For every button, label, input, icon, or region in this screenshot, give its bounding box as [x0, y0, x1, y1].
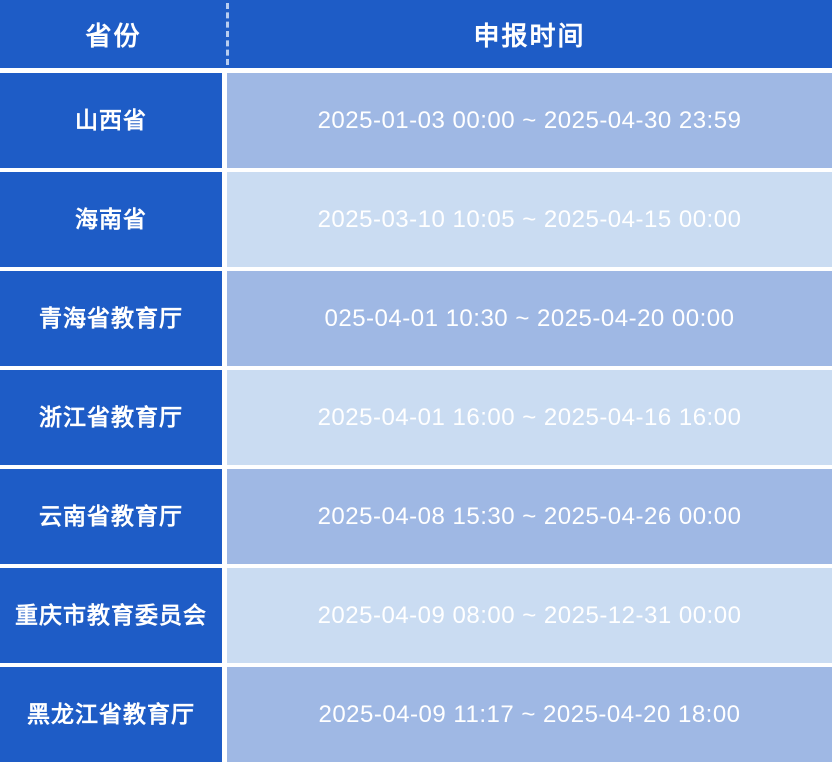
- declaration-time-label: 2025-04-01 16:00 ~ 2025-04-16 16:00: [318, 404, 742, 432]
- cell-province: 重庆市教育委员会: [0, 568, 227, 667]
- province-label: 黑龙江省教育厅: [27, 702, 195, 727]
- cell-province: 云南省教育厅: [0, 469, 227, 568]
- declaration-time-label: 2025-04-09 11:17 ~ 2025-04-20 18:00: [318, 701, 740, 729]
- declaration-schedule-table: 省份 申报时间 山西省2025-01-03 00:00 ~ 2025-04-30…: [0, 0, 832, 762]
- table-row: 山西省2025-01-03 00:00 ~ 2025-04-30 23:59: [0, 73, 832, 172]
- table-row: 黑龙江省教育厅2025-04-09 11:17 ~ 2025-04-20 18:…: [0, 667, 832, 762]
- cell-declaration-time: 2025-04-09 08:00 ~ 2025-12-31 00:00: [227, 568, 832, 667]
- cell-declaration-time: 2025-04-01 16:00 ~ 2025-04-16 16:00: [227, 370, 832, 469]
- declaration-schedule-table-container: 省份 申报时间 山西省2025-01-03 00:00 ~ 2025-04-30…: [0, 0, 832, 734]
- table-row: 重庆市教育委员会2025-04-09 08:00 ~ 2025-12-31 00…: [0, 568, 832, 667]
- declaration-time-label: 2025-04-08 15:30 ~ 2025-04-26 00:00: [318, 503, 742, 531]
- table-bottom-spacer: [0, 762, 832, 770]
- cell-province: 浙江省教育厅: [0, 370, 227, 469]
- table-row: 云南省教育厅2025-04-08 15:30 ~ 2025-04-26 00:0…: [0, 469, 832, 568]
- cell-province: 海南省: [0, 172, 227, 271]
- cell-declaration-time: 2025-01-03 00:00 ~ 2025-04-30 23:59: [227, 73, 832, 172]
- declaration-time-label: 2025-04-09 08:00 ~ 2025-12-31 00:00: [318, 602, 742, 630]
- cell-declaration-time: 025-04-01 10:30 ~ 2025-04-20 00:00: [227, 271, 832, 370]
- table-body: 山西省2025-01-03 00:00 ~ 2025-04-30 23:59海南…: [0, 73, 832, 762]
- province-label: 山西省: [75, 108, 147, 133]
- declaration-time-label: 025-04-01 10:30 ~ 2025-04-20 00:00: [325, 305, 735, 333]
- table-header: 省份 申报时间: [0, 0, 832, 73]
- cell-province: 黑龙江省教育厅: [0, 667, 227, 762]
- table-header-row: 省份 申报时间: [0, 0, 832, 73]
- declaration-time-label: 2025-03-10 10:05 ~ 2025-04-15 00:00: [318, 206, 742, 234]
- column-header-declaration-time: 申报时间: [227, 0, 832, 73]
- province-label: 海南省: [75, 207, 147, 232]
- column-header-province: 省份: [0, 0, 227, 73]
- cell-declaration-time: 2025-04-09 11:17 ~ 2025-04-20 18:00: [227, 667, 832, 762]
- province-label: 青海省教育厅: [39, 306, 183, 331]
- cell-declaration-time: 2025-03-10 10:05 ~ 2025-04-15 00:00: [227, 172, 832, 271]
- cell-province: 山西省: [0, 73, 227, 172]
- province-label: 重庆市教育委员会: [15, 603, 207, 628]
- table-row: 海南省2025-03-10 10:05 ~ 2025-04-15 00:00: [0, 172, 832, 271]
- cell-province: 青海省教育厅: [0, 271, 227, 370]
- table-row: 浙江省教育厅2025-04-01 16:00 ~ 2025-04-16 16:0…: [0, 370, 832, 469]
- province-label: 浙江省教育厅: [39, 405, 183, 430]
- table-row: 青海省教育厅025-04-01 10:30 ~ 2025-04-20 00:00: [0, 271, 832, 370]
- province-label: 云南省教育厅: [39, 504, 183, 529]
- cell-declaration-time: 2025-04-08 15:30 ~ 2025-04-26 00:00: [227, 469, 832, 568]
- declaration-time-label: 2025-01-03 00:00 ~ 2025-04-30 23:59: [318, 107, 742, 135]
